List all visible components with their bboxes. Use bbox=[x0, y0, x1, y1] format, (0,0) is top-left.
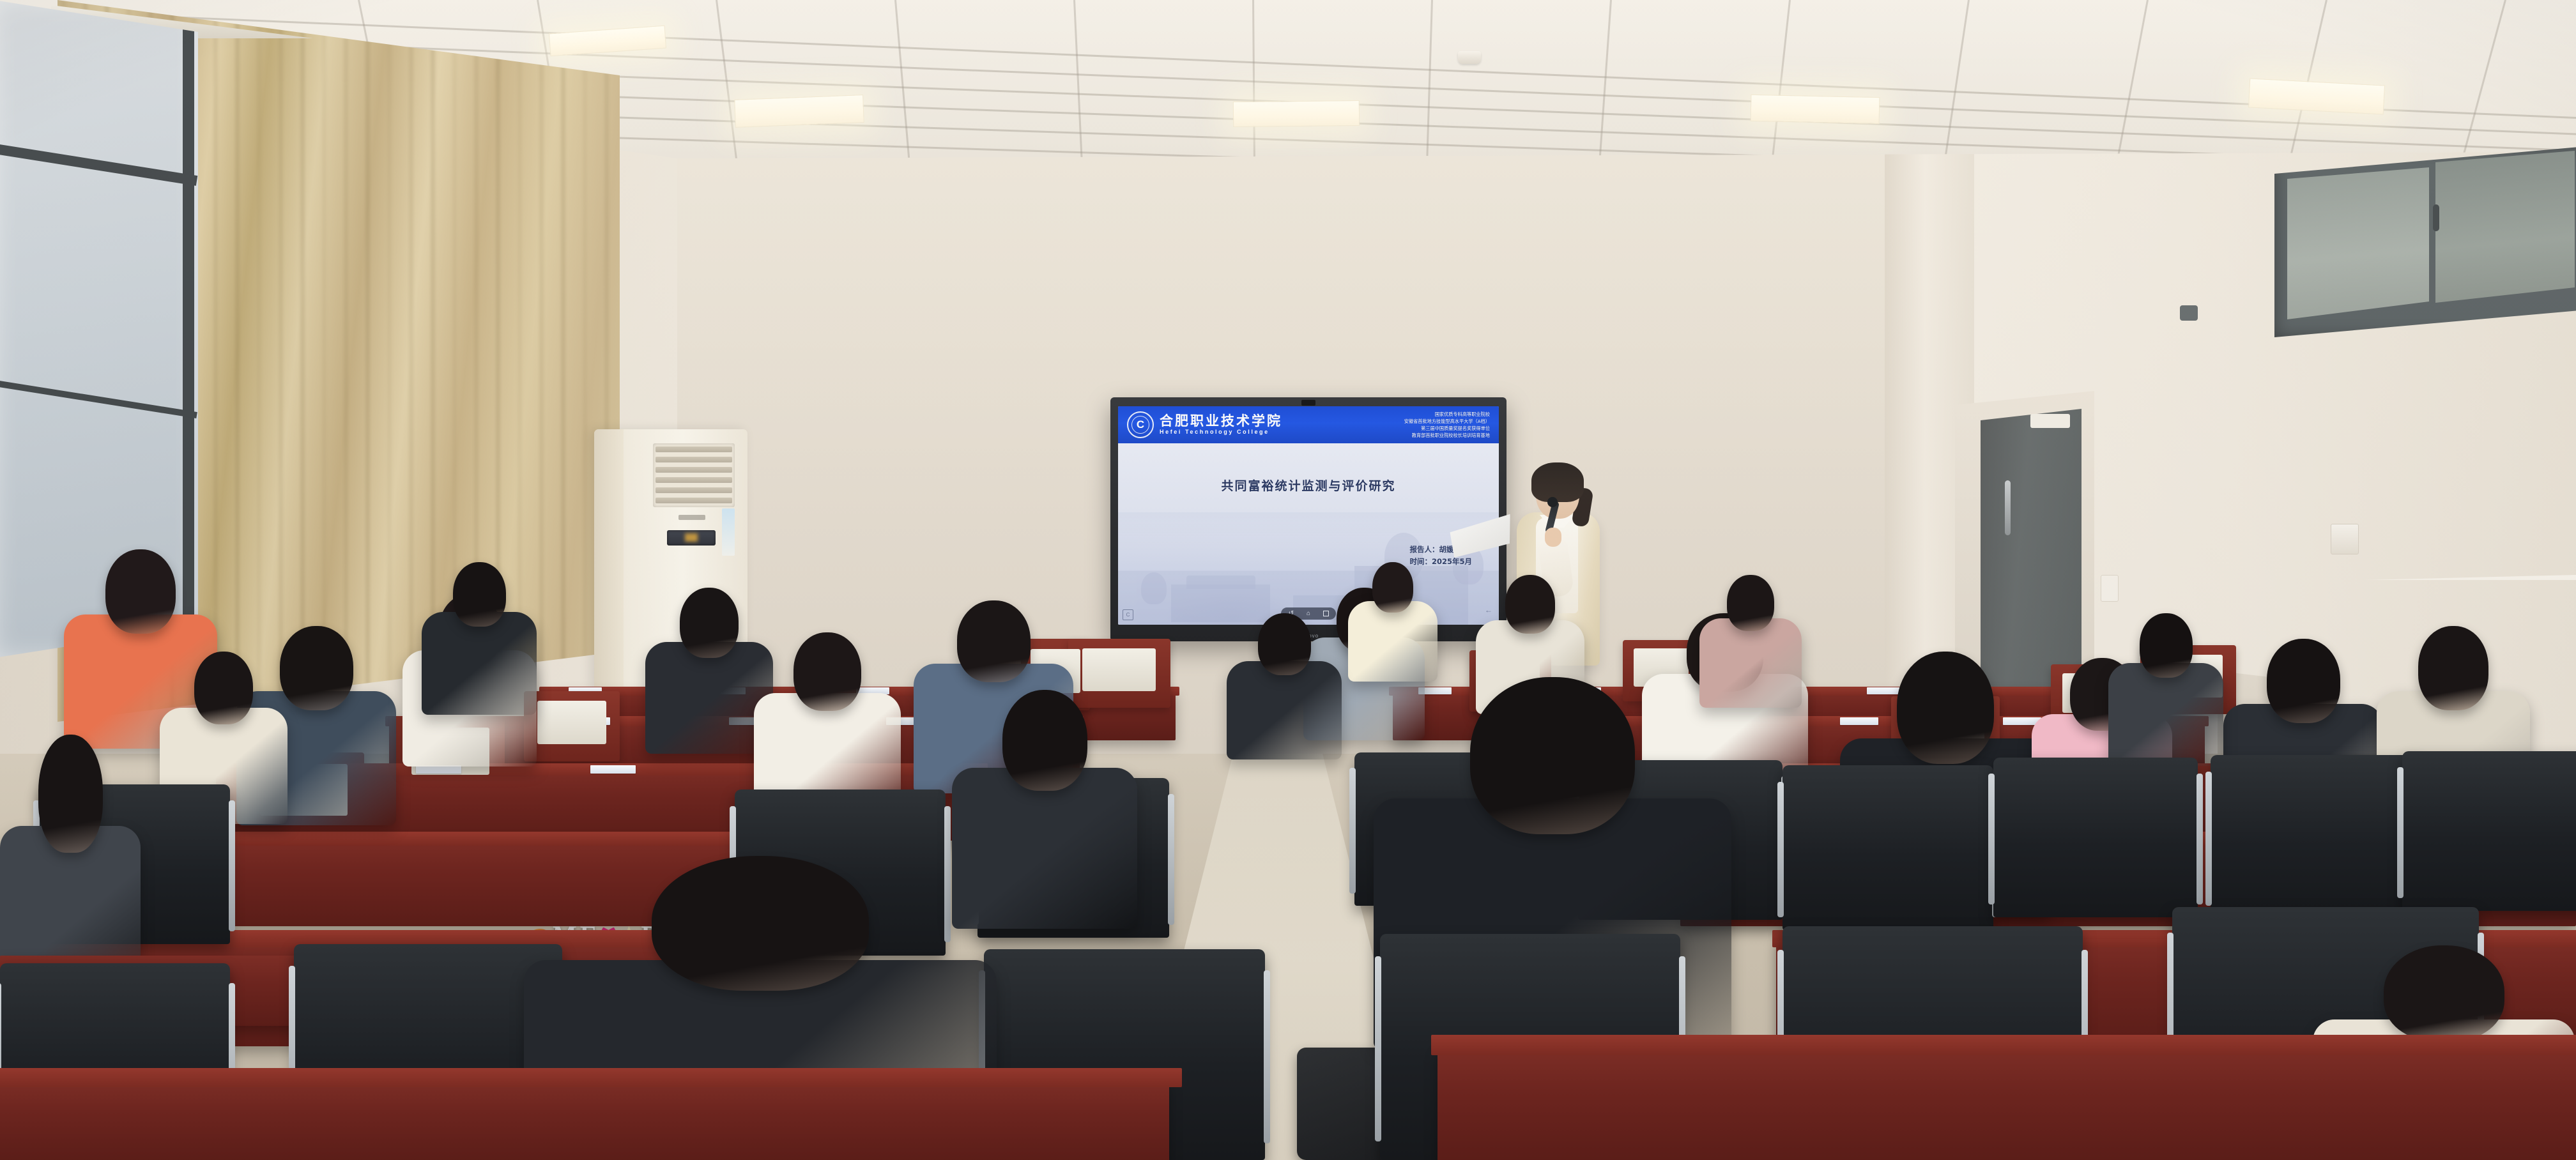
chair-chrome-frame[interactable] bbox=[1375, 956, 1381, 1141]
air-conditioner-louver bbox=[655, 487, 732, 493]
door-handle-icon[interactable] bbox=[2005, 480, 2011, 535]
air-conditioner-energy-label bbox=[722, 508, 735, 556]
audience-head bbox=[280, 626, 353, 710]
audience-torso bbox=[1348, 601, 1437, 682]
audience-head bbox=[1002, 690, 1087, 791]
audience-head bbox=[1470, 677, 1635, 834]
audience-head bbox=[194, 652, 253, 724]
curtain-fold bbox=[583, 0, 587, 722]
foreground-desk-right[interactable] bbox=[1437, 1048, 2576, 1160]
air-conditioner-louver bbox=[655, 457, 732, 462]
window-pane-left bbox=[2287, 157, 2429, 319]
audience-member bbox=[2108, 613, 2223, 760]
air-conditioner-side-panel bbox=[594, 429, 624, 691]
display-camera-icon bbox=[1301, 400, 1315, 406]
chair-chrome-frame[interactable] bbox=[229, 800, 235, 931]
audience-head bbox=[105, 549, 176, 634]
chair-chrome-frame[interactable] bbox=[2205, 772, 2212, 906]
audience-head bbox=[1727, 575, 1774, 631]
school-logo-glyph: C bbox=[1131, 416, 1149, 434]
air-conditioner-louver bbox=[655, 467, 732, 473]
school-name-cn: 合肥职业技术学院 bbox=[1160, 414, 1282, 428]
microphone-head-icon bbox=[1547, 497, 1558, 507]
school-name-en: Hefei Technology College bbox=[1160, 429, 1282, 435]
ceiling-light-panel-2 bbox=[1233, 100, 1360, 127]
credential-line-4: 教育部首批职业院校校长培训培育基地 bbox=[1404, 432, 1490, 439]
curtain-fold bbox=[365, 0, 370, 722]
air-conditioner-louver bbox=[655, 477, 732, 483]
ceiling-light-panel-3 bbox=[1751, 95, 1880, 124]
air-conditioner-brand-mark bbox=[678, 515, 705, 520]
audience-member bbox=[1227, 613, 1342, 754]
chair-chrome-frame[interactable] bbox=[1264, 970, 1270, 1143]
audience-head bbox=[1372, 562, 1413, 613]
curtain-fold bbox=[279, 0, 283, 722]
audience-head bbox=[1505, 575, 1555, 634]
curtain-fold bbox=[322, 0, 326, 722]
presenter-hand bbox=[1545, 528, 1561, 547]
foreground-desk-top-right[interactable] bbox=[1431, 1035, 2576, 1055]
audience-head bbox=[2267, 639, 2340, 723]
desk-nameplate bbox=[590, 765, 636, 774]
chair-chrome-frame[interactable] bbox=[2196, 774, 2203, 904]
audience-head bbox=[652, 856, 869, 991]
audience-head bbox=[957, 600, 1031, 682]
curtain-fold bbox=[257, 0, 261, 722]
school-credentials: 国家优质专科高等职业院校 安徽省首批地方技能型高水平大学（A档） 第三届中国质量… bbox=[1404, 411, 1490, 439]
slide-title: 共同富裕统计监测与评价研究 bbox=[1118, 477, 1499, 494]
audience-torso bbox=[1227, 661, 1342, 759]
audience-head bbox=[680, 588, 739, 658]
school-logo-icon: C bbox=[1127, 411, 1154, 438]
chair-chrome-frame[interactable] bbox=[1777, 782, 1784, 917]
air-conditioner-louver bbox=[655, 446, 732, 452]
curtain-fold bbox=[539, 0, 544, 722]
audience-chair-6[interactable] bbox=[1993, 758, 2198, 917]
audience-member bbox=[422, 562, 537, 709]
curtain-fold bbox=[387, 0, 392, 722]
slide-header: C 合肥职业技术学院 Hefei Technology College 国家优质… bbox=[1118, 406, 1499, 443]
air-conditioner-louver bbox=[655, 498, 732, 503]
audience-head bbox=[1258, 613, 1311, 675]
chair-chrome-frame[interactable] bbox=[1168, 794, 1174, 925]
audience-chair-5[interactable] bbox=[1782, 765, 1993, 930]
audience-chair-8[interactable] bbox=[2402, 751, 2576, 911]
door-wall-switch[interactable] bbox=[2101, 575, 2119, 602]
ceiling-light-panel-5 bbox=[549, 26, 666, 57]
foreground-desk-left[interactable] bbox=[0, 1080, 1169, 1160]
wood-chair-pad[interactable] bbox=[537, 701, 606, 744]
chair-chrome-frame[interactable] bbox=[1349, 768, 1356, 894]
audience-head bbox=[38, 735, 103, 853]
credential-line-3: 第三届中国质量奖提名奖获得单位 bbox=[1404, 425, 1490, 432]
audience-member bbox=[1348, 562, 1437, 677]
audience-torso bbox=[2108, 663, 2223, 766]
foreground-desk-top-left[interactable] bbox=[0, 1068, 1182, 1087]
wood-chair-pad[interactable] bbox=[1082, 648, 1156, 691]
presenter-hair bbox=[1531, 462, 1584, 502]
audience-head bbox=[793, 632, 861, 711]
window-mullion bbox=[0, 380, 197, 418]
audience-chair-7[interactable] bbox=[2211, 755, 2421, 919]
audience-head bbox=[453, 562, 506, 627]
door-closer bbox=[2030, 414, 2070, 428]
credential-line-1: 国家优质专科高等职业院校 bbox=[1404, 411, 1490, 418]
window-pane-right bbox=[2435, 151, 2575, 303]
smoke-detector-icon bbox=[1458, 51, 1481, 64]
wall-mounted-fixture bbox=[2180, 305, 2198, 321]
ceiling-light-panel-1 bbox=[734, 95, 864, 128]
window-mullion bbox=[0, 144, 197, 186]
light-switch[interactable] bbox=[2331, 524, 2359, 554]
audience-torso bbox=[422, 612, 537, 715]
curtain-fold bbox=[235, 0, 240, 722]
curtain-fold bbox=[300, 0, 305, 722]
lecture-hall-photo: C 合肥职业技术学院 Hefei Technology College 国家优质… bbox=[0, 0, 2576, 1160]
air-conditioner-display-glow bbox=[685, 533, 698, 542]
curtain-fold bbox=[561, 0, 565, 722]
chair-chrome-frame[interactable] bbox=[2397, 767, 2403, 898]
ceiling-light-panel-4 bbox=[2248, 78, 2385, 114]
audience-head bbox=[2384, 945, 2504, 1041]
audience-head bbox=[1897, 652, 1994, 764]
audience-head bbox=[2140, 613, 2193, 678]
screen-corner-badge: C bbox=[1123, 609, 1133, 620]
air-conditioner-vent bbox=[653, 443, 735, 507]
curtain-fold bbox=[344, 0, 348, 722]
window-handle-icon[interactable] bbox=[2433, 204, 2439, 231]
audience-member bbox=[754, 632, 901, 811]
audience-head bbox=[2418, 626, 2488, 710]
credential-line-2: 安徽省首批地方技能型高水平大学（A档） bbox=[1404, 418, 1490, 425]
chair-chrome-frame[interactable] bbox=[1988, 774, 1995, 904]
